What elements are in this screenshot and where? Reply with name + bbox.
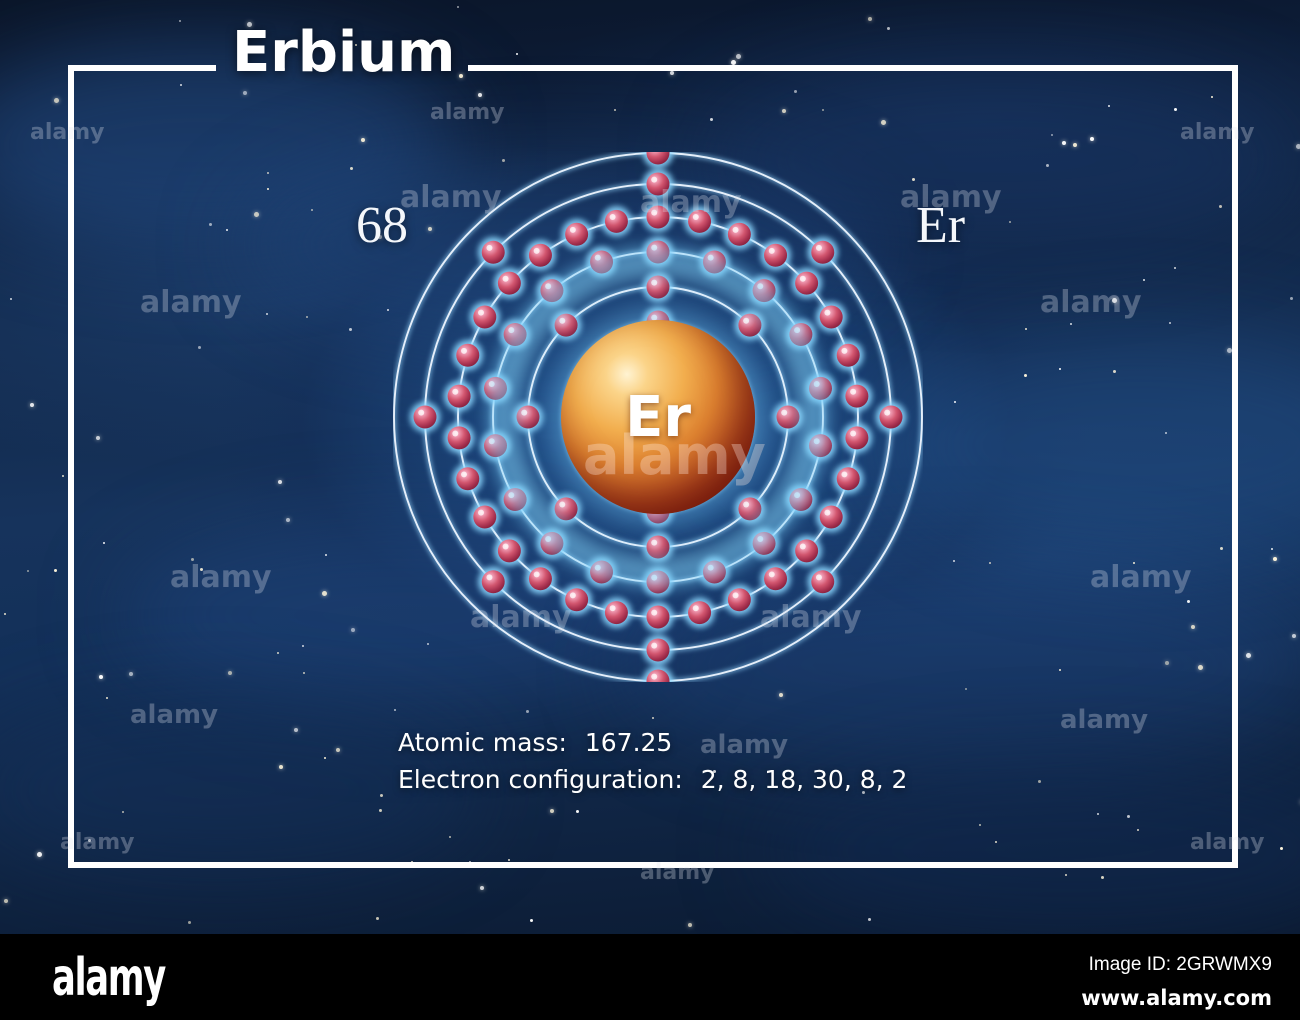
- electron-highlight: [816, 245, 822, 251]
- electron: [529, 567, 552, 590]
- star: [480, 886, 484, 890]
- star: [1296, 144, 1300, 149]
- electron-highlight: [693, 214, 699, 220]
- star: [103, 542, 105, 544]
- electron-highlight: [693, 605, 699, 611]
- electron: [647, 639, 670, 662]
- electron-highlight: [570, 592, 576, 598]
- alamy-watermark: alamy: [1040, 285, 1142, 320]
- electron-highlight: [418, 410, 424, 416]
- star: [228, 671, 232, 675]
- star: [209, 223, 212, 226]
- electron-highlight: [850, 431, 856, 437]
- electron-highlight: [733, 227, 739, 233]
- star: [1113, 370, 1116, 373]
- star: [303, 672, 305, 674]
- star: [266, 313, 268, 315]
- electron: [795, 272, 818, 295]
- star: [1191, 625, 1195, 629]
- star: [736, 54, 741, 59]
- star: [1051, 134, 1053, 136]
- electron-highlight: [884, 410, 890, 416]
- alamy-logo: alamy: [52, 948, 165, 1008]
- electron-highlight: [461, 348, 467, 354]
- star: [200, 568, 203, 571]
- star: [1174, 108, 1177, 111]
- star: [794, 90, 797, 93]
- page-title: Erbium: [232, 20, 455, 85]
- electron: [529, 244, 552, 267]
- electron: [688, 210, 711, 233]
- star: [1046, 164, 1049, 167]
- star: [1271, 548, 1273, 550]
- star: [779, 693, 783, 697]
- star: [1137, 829, 1139, 831]
- alamy-watermark: alamy: [430, 100, 505, 125]
- star: [1143, 279, 1145, 281]
- electron: [647, 606, 670, 629]
- electron-highlight: [503, 543, 509, 549]
- electron: [565, 223, 588, 246]
- star: [411, 861, 413, 863]
- star: [1073, 143, 1077, 147]
- electron-highlight: [452, 389, 458, 395]
- electron-highlight: [733, 592, 739, 598]
- electron: [811, 241, 834, 264]
- star: [868, 918, 871, 921]
- star: [979, 824, 981, 826]
- star: [1246, 653, 1251, 658]
- electron: [820, 506, 843, 529]
- electron: [845, 426, 868, 449]
- electron: [482, 241, 505, 264]
- electron: [764, 244, 787, 267]
- star: [68, 303, 70, 305]
- alamy-watermark: alamy: [30, 120, 105, 145]
- star: [302, 645, 304, 647]
- star: [254, 212, 259, 217]
- star: [478, 93, 482, 97]
- star: [508, 859, 510, 861]
- electron-highlight: [651, 610, 657, 616]
- star: [1133, 562, 1135, 564]
- frame-top-left-border: [68, 65, 216, 71]
- star: [351, 628, 355, 632]
- star: [1174, 267, 1176, 269]
- electron-highlight: [651, 674, 657, 680]
- star: [731, 60, 736, 65]
- alamy-footer: alamy Image ID: 2GRWMX9 www.alamy.com: [0, 934, 1300, 1020]
- electron-highlight: [503, 276, 509, 282]
- electron-highlight: [486, 574, 492, 580]
- star: [267, 172, 269, 174]
- star: [614, 109, 616, 111]
- star: [1234, 248, 1236, 250]
- star: [379, 809, 382, 812]
- star: [96, 436, 100, 440]
- nucleus-symbol: Er: [561, 320, 755, 514]
- star: [1169, 322, 1171, 324]
- electron: [647, 206, 670, 229]
- frame-top-right-border: [468, 65, 1238, 71]
- star: [1127, 815, 1130, 818]
- electron: [837, 467, 860, 490]
- star: [1059, 669, 1061, 671]
- star: [1112, 298, 1117, 303]
- alamy-watermark: alamy: [140, 285, 242, 320]
- star: [670, 71, 674, 75]
- star: [27, 570, 29, 572]
- electron: [456, 467, 479, 490]
- star: [989, 562, 991, 564]
- electron: [688, 601, 711, 624]
- footer-meta: Image ID: 2GRWMX9 www.alamy.com: [1081, 954, 1272, 1010]
- star: [1065, 874, 1067, 876]
- alamy-watermark: alamy: [1180, 120, 1255, 145]
- star: [1280, 847, 1283, 850]
- star: [1292, 634, 1296, 638]
- star: [277, 652, 279, 654]
- electron-highlight: [534, 248, 540, 254]
- star: [1108, 105, 1110, 107]
- star: [881, 120, 886, 125]
- electron: [647, 173, 670, 196]
- element-info: Atomic mass: 167.25 Electron configurati…: [398, 724, 907, 798]
- alamy-watermark: alamy: [130, 700, 218, 730]
- electron: [482, 570, 505, 593]
- star: [469, 861, 471, 863]
- star: [1038, 780, 1041, 783]
- star: [226, 229, 228, 231]
- electron: [498, 272, 521, 295]
- star: [336, 748, 340, 752]
- star: [868, 17, 872, 21]
- star: [953, 560, 955, 562]
- star: [1198, 665, 1203, 670]
- star: [1227, 348, 1232, 353]
- star: [349, 328, 352, 331]
- alamy-watermark: alamy: [170, 560, 272, 595]
- star: [1211, 96, 1213, 98]
- star: [516, 53, 518, 55]
- star: [782, 109, 786, 113]
- star: [1220, 547, 1223, 550]
- electron-highlight: [452, 431, 458, 437]
- alamy-watermark: alamy: [1090, 560, 1192, 595]
- nucleus: Er: [561, 320, 755, 514]
- electron: [448, 426, 471, 449]
- electron-highlight: [478, 510, 484, 516]
- star: [322, 591, 327, 596]
- electron: [795, 539, 818, 562]
- electron: [605, 601, 628, 624]
- star: [1097, 813, 1099, 815]
- star: [1090, 137, 1094, 141]
- star: [294, 728, 298, 732]
- star: [688, 923, 692, 927]
- electron: [811, 570, 834, 593]
- star: [1233, 636, 1236, 639]
- electron-highlight: [651, 643, 657, 649]
- electron: [498, 539, 521, 562]
- star: [887, 27, 890, 30]
- atom-diagram-stage: Erbium 68 Er Er Atomic mass: [0, 0, 1300, 1020]
- star: [1290, 297, 1293, 300]
- star: [243, 91, 247, 95]
- electron: [473, 306, 496, 329]
- electron-highlight: [769, 248, 775, 254]
- star: [179, 20, 181, 22]
- star: [376, 917, 379, 920]
- star: [191, 558, 194, 561]
- electron-configuration-value: 2, 8, 18, 30, 8, 2: [701, 765, 908, 794]
- star: [306, 316, 308, 318]
- star: [387, 309, 389, 311]
- electron-highlight: [461, 471, 467, 477]
- star: [10, 298, 12, 300]
- electron: [605, 210, 628, 233]
- electron-highlight: [610, 605, 616, 611]
- star: [188, 921, 191, 924]
- electron: [456, 344, 479, 367]
- star: [1165, 661, 1169, 665]
- star: [1165, 432, 1167, 434]
- electron-configuration-row: Electron configuration: 2, 8, 18, 30, 8,…: [398, 761, 907, 798]
- atomic-mass-value: 167.25: [585, 728, 672, 757]
- electron-configuration-label: Electron configuration:: [398, 765, 683, 794]
- star: [652, 717, 654, 719]
- alamy-watermark: alamy: [1060, 705, 1148, 735]
- electron-highlight: [841, 471, 847, 477]
- star: [965, 688, 967, 690]
- electron-highlight: [570, 227, 576, 233]
- star: [279, 765, 283, 769]
- electron-highlight: [651, 210, 657, 216]
- star: [350, 167, 353, 170]
- electron-highlight: [769, 571, 775, 577]
- star: [380, 794, 383, 797]
- electron-highlight: [841, 348, 847, 354]
- star: [1187, 600, 1190, 603]
- star: [54, 569, 57, 572]
- star: [1025, 328, 1027, 330]
- electron: [728, 223, 751, 246]
- star: [710, 118, 713, 121]
- frame-right-border: [1232, 65, 1238, 868]
- star: [4, 899, 8, 903]
- star: [122, 811, 124, 813]
- star: [1024, 374, 1027, 377]
- alamy-watermark: alamy: [60, 830, 135, 855]
- star: [1219, 205, 1222, 208]
- atom-model: Er: [393, 152, 923, 682]
- star: [106, 697, 108, 699]
- electron: [414, 406, 437, 429]
- star: [459, 74, 463, 78]
- atomic-mass-row: Atomic mass: 167.25: [398, 724, 907, 761]
- electron-highlight: [478, 310, 484, 316]
- star: [1273, 557, 1277, 561]
- electron: [448, 385, 471, 408]
- star: [4, 613, 6, 615]
- electron: [820, 306, 843, 329]
- element-symbol-label: Er: [916, 196, 965, 255]
- star: [995, 841, 997, 843]
- star: [1101, 876, 1104, 879]
- star: [37, 852, 42, 857]
- star: [286, 518, 290, 522]
- space-background: Erbium 68 Er Er Atomic mass: [0, 0, 1300, 934]
- star: [324, 757, 326, 759]
- star: [88, 839, 91, 842]
- alamy-watermark: alamy: [640, 860, 715, 885]
- frame-left-border: [68, 65, 74, 868]
- electron-highlight: [824, 310, 830, 316]
- electron-highlight: [824, 510, 830, 516]
- star: [311, 209, 313, 211]
- star: [526, 710, 529, 713]
- electron: [837, 344, 860, 367]
- electron: [845, 385, 868, 408]
- electron-highlight: [850, 389, 856, 395]
- electron: [565, 588, 588, 611]
- electron-highlight: [610, 214, 616, 220]
- nebula-cloud: [880, 330, 1300, 560]
- electron: [880, 406, 903, 429]
- alamy-watermark: alamy: [1190, 830, 1265, 855]
- atomic-mass-label: Atomic mass:: [398, 728, 567, 757]
- star: [550, 809, 554, 813]
- star: [54, 98, 59, 103]
- electron: [764, 567, 787, 590]
- electron-highlight: [800, 543, 806, 549]
- star: [129, 672, 133, 676]
- star: [1062, 141, 1066, 145]
- star: [62, 475, 64, 477]
- star: [457, 6, 459, 8]
- electron-highlight: [534, 571, 540, 577]
- star: [822, 109, 824, 111]
- star: [198, 346, 201, 349]
- electron-highlight: [651, 177, 657, 183]
- image-id-text: Image ID: 2GRWMX9: [1081, 954, 1272, 976]
- star: [30, 403, 34, 407]
- star: [267, 188, 269, 190]
- electron: [728, 588, 751, 611]
- star: [325, 554, 327, 556]
- star: [449, 836, 451, 838]
- star: [361, 138, 365, 142]
- alamy-site-text: www.alamy.com: [1081, 986, 1272, 1010]
- star: [576, 810, 579, 813]
- electron-highlight: [486, 245, 492, 251]
- star: [1070, 323, 1072, 325]
- star: [278, 480, 282, 484]
- star: [394, 709, 396, 711]
- star: [1059, 368, 1061, 370]
- frame-bottom-border: [68, 862, 1238, 868]
- star: [954, 401, 956, 403]
- electron: [473, 506, 496, 529]
- electron-highlight: [800, 276, 806, 282]
- star: [1009, 221, 1011, 223]
- electron-highlight: [816, 574, 822, 580]
- star: [530, 919, 533, 922]
- star: [180, 84, 182, 86]
- star: [99, 675, 103, 679]
